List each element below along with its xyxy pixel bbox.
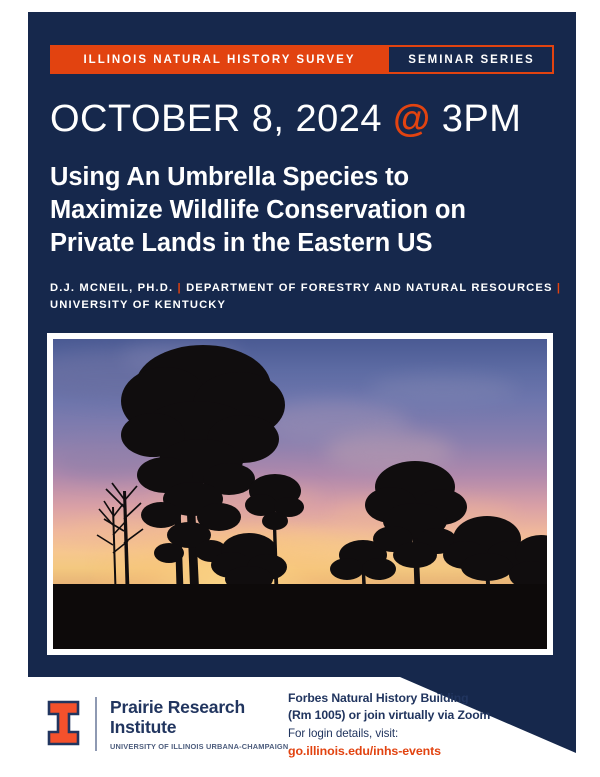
banner-series-block: SEMINAR SERIES [387, 45, 554, 74]
sunset-photo [53, 339, 547, 649]
banner-org-block: ILLINOIS NATURAL HISTORY SURVEY [50, 45, 387, 74]
header-banner: ILLINOIS NATURAL HISTORY SURVEY SEMINAR … [50, 45, 554, 74]
seminar-poster: ILLINOIS NATURAL HISTORY SURVEY SEMINAR … [0, 0, 600, 777]
speaker-affiliation: D.J. MCNEIL, PH.D. | DEPARTMENT OF FORES… [50, 280, 562, 315]
footer-login-note: For login details, visit: [288, 725, 558, 742]
seminar-title-line-1: Using An Umbrella Species to [50, 161, 562, 194]
logo-wordmark: Prairie Research Institute UNIVERSITY OF… [110, 697, 288, 751]
speaker-separator-1: | [178, 282, 182, 294]
seminar-title-line-2: Maximize Wildlife Conservation on [50, 194, 562, 227]
photo-frame [47, 333, 553, 655]
seminar-title: Using An Umbrella Species to Maximize Wi… [50, 161, 562, 260]
footer-location-line-2: (Rm 1005) or join virtually via Zoom [288, 707, 558, 724]
speaker-institution: UNIVERSITY OF KENTUCKY [50, 299, 226, 311]
at-symbol-icon: @ [393, 98, 431, 140]
logo-name-line-2: Institute [110, 717, 288, 737]
illinois-block-i-icon [47, 700, 80, 746]
banner-org-label: ILLINOIS NATURAL HISTORY SURVEY [81, 54, 355, 66]
speaker-name: D.J. MCNEIL, PH.D. [50, 282, 173, 294]
logo-university-line: UNIVERSITY OF ILLINOIS URBANA-CHAMPAIGN [110, 742, 288, 751]
logo-name-line-1: Prairie Research [110, 697, 288, 717]
banner-series-label: SEMINAR SERIES [406, 54, 534, 66]
event-time: 3PM [431, 98, 522, 140]
seminar-title-line-3: Private Lands in the Eastern US [50, 227, 562, 260]
footer-event-url[interactable]: go.illinois.edu/inhs-events [288, 743, 558, 759]
prairie-research-institute-logo: Prairie Research Institute UNIVERSITY OF… [47, 697, 288, 751]
event-date-time: OCTOBER 8, 2024 @ 3PM [50, 100, 560, 138]
photo-ground [53, 584, 547, 649]
footer-details: Forbes Natural History Building (Rm 1005… [288, 690, 558, 759]
footer-location-line-1: Forbes Natural History Building [288, 690, 558, 707]
event-date: OCTOBER 8, 2024 [50, 98, 393, 140]
speaker-separator-2: | [557, 282, 561, 294]
speaker-department: DEPARTMENT OF FORESTRY AND NATURAL RESOU… [186, 282, 553, 294]
logo-divider [95, 697, 97, 751]
